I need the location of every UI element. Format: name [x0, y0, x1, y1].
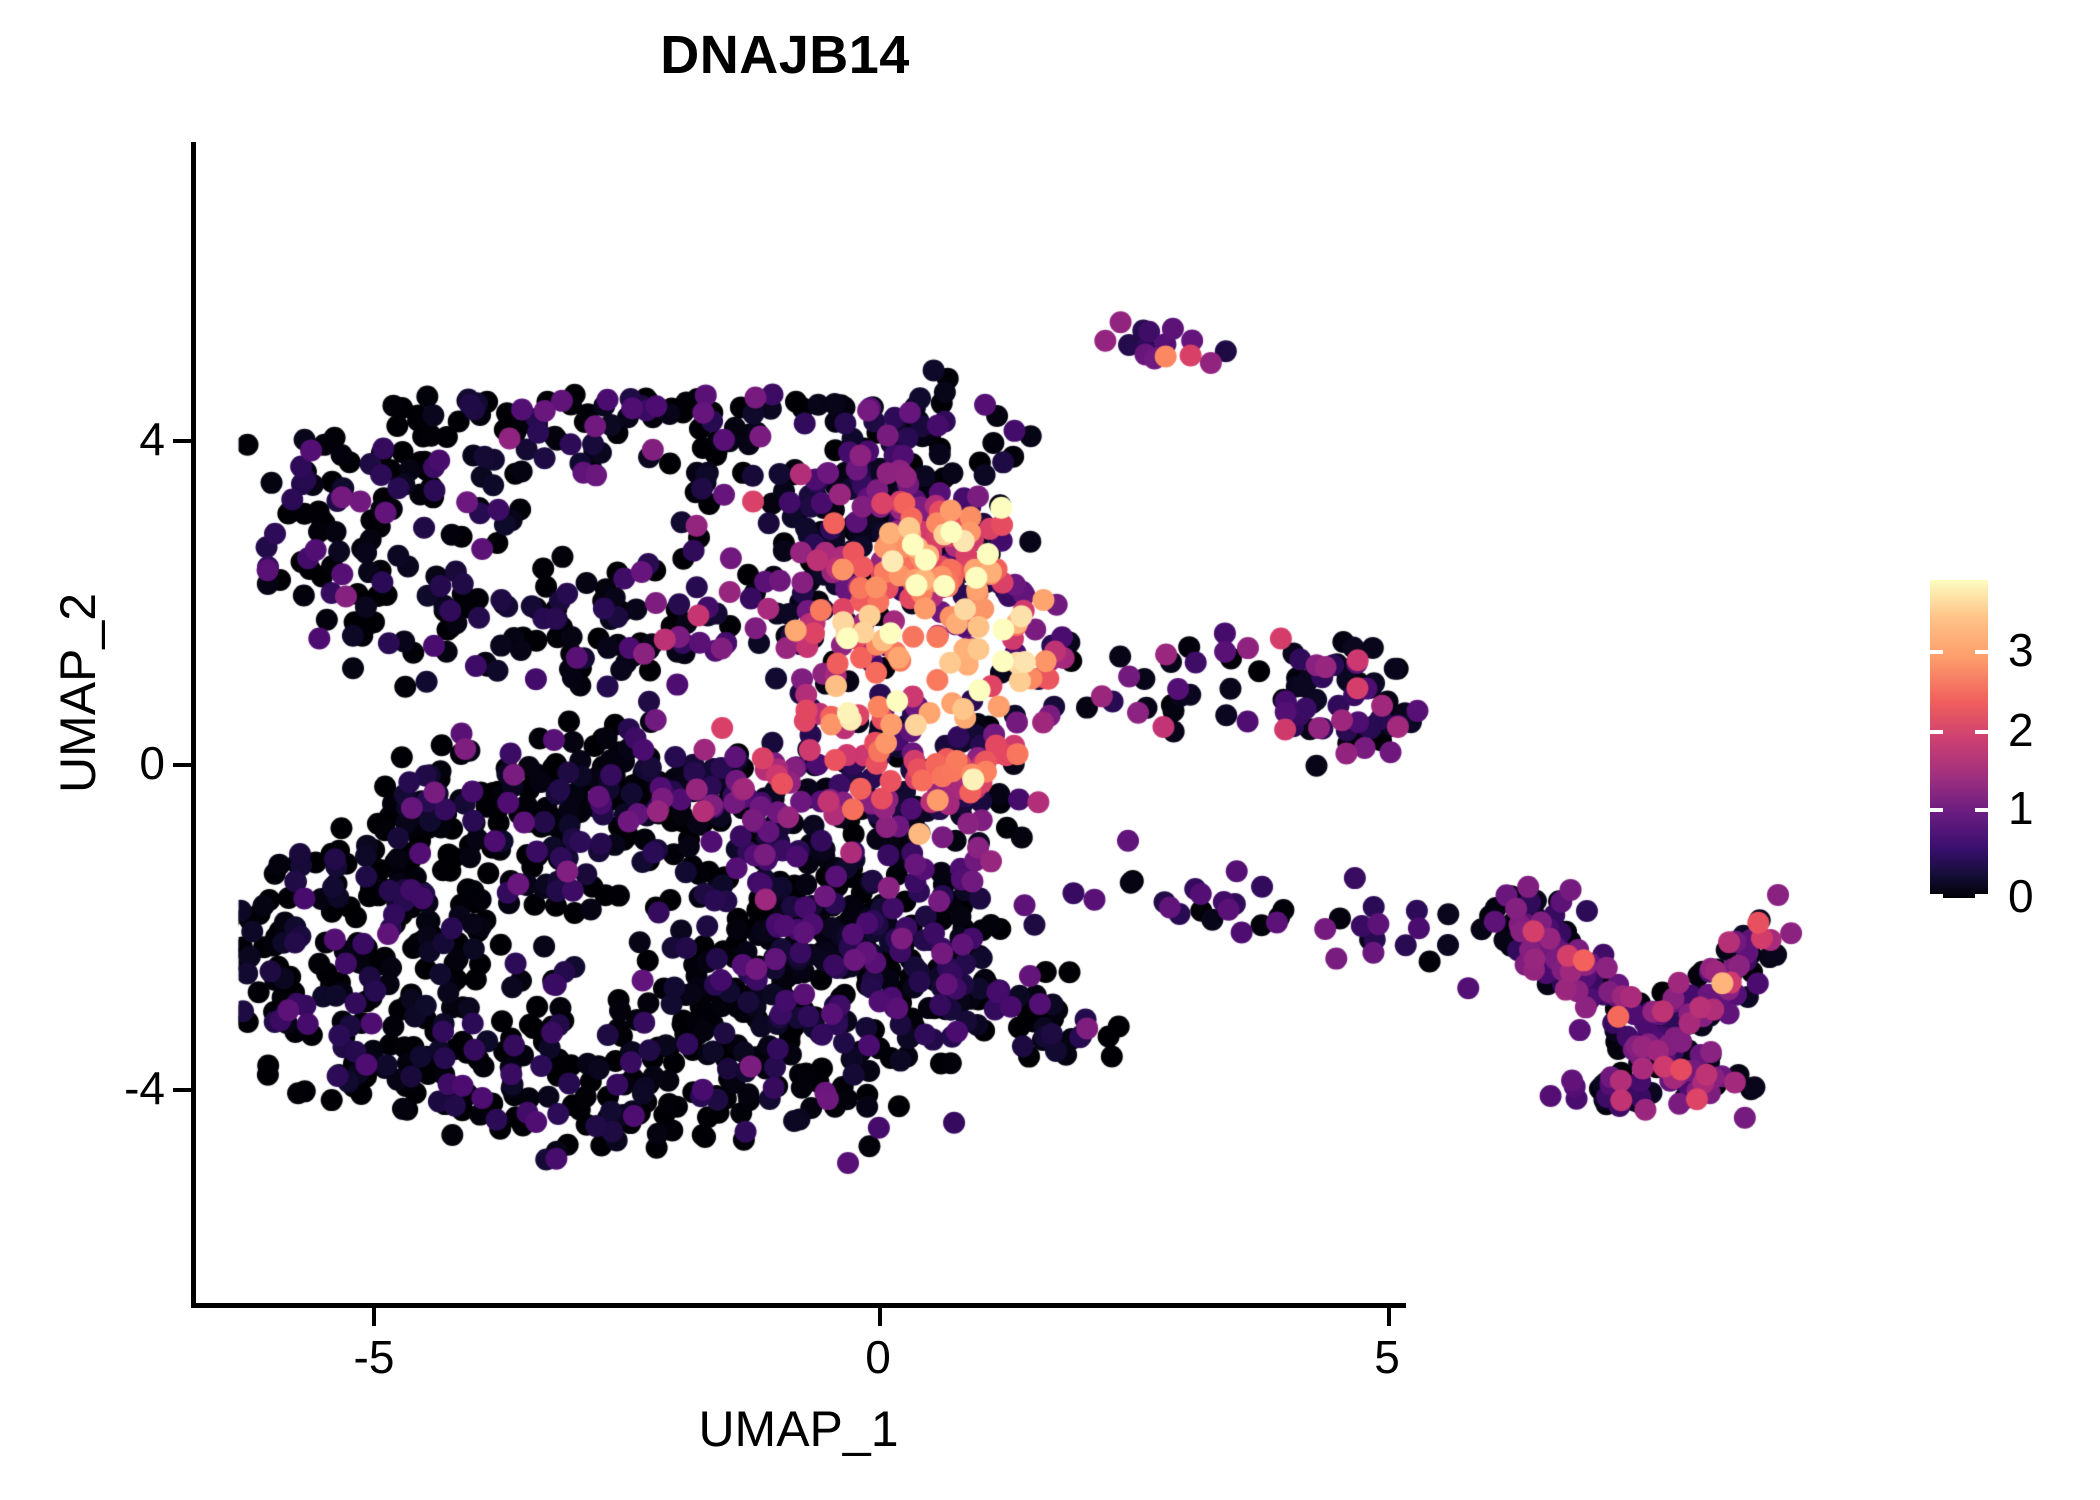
colorbar-label: 3: [2008, 623, 2034, 677]
figure-root: DNAJB14 -5 0 5 4 0 -4 UMAP_1 UMAP_2 3 2 …: [0, 0, 2100, 1500]
colorbar-label: 1: [2008, 781, 2034, 835]
colorbar-label: 2: [2008, 703, 2034, 757]
colorbar-tick: [1930, 650, 1943, 654]
colorbar-tick: [1930, 894, 1943, 898]
colorbar-gradient: [1930, 580, 1988, 898]
scatter-plot-canvas: [0, 0, 2100, 1500]
colorbar-tick: [1975, 808, 1988, 812]
colorbar-label: 0: [2008, 869, 2034, 923]
colorbar-tick: [1930, 808, 1943, 812]
colorbar-tick: [1930, 730, 1943, 734]
colorbar-tick: [1975, 730, 1988, 734]
colorbar-legend: 3 2 1 0: [1930, 580, 1988, 898]
colorbar-tick: [1975, 894, 1988, 898]
colorbar-tick: [1975, 650, 1988, 654]
